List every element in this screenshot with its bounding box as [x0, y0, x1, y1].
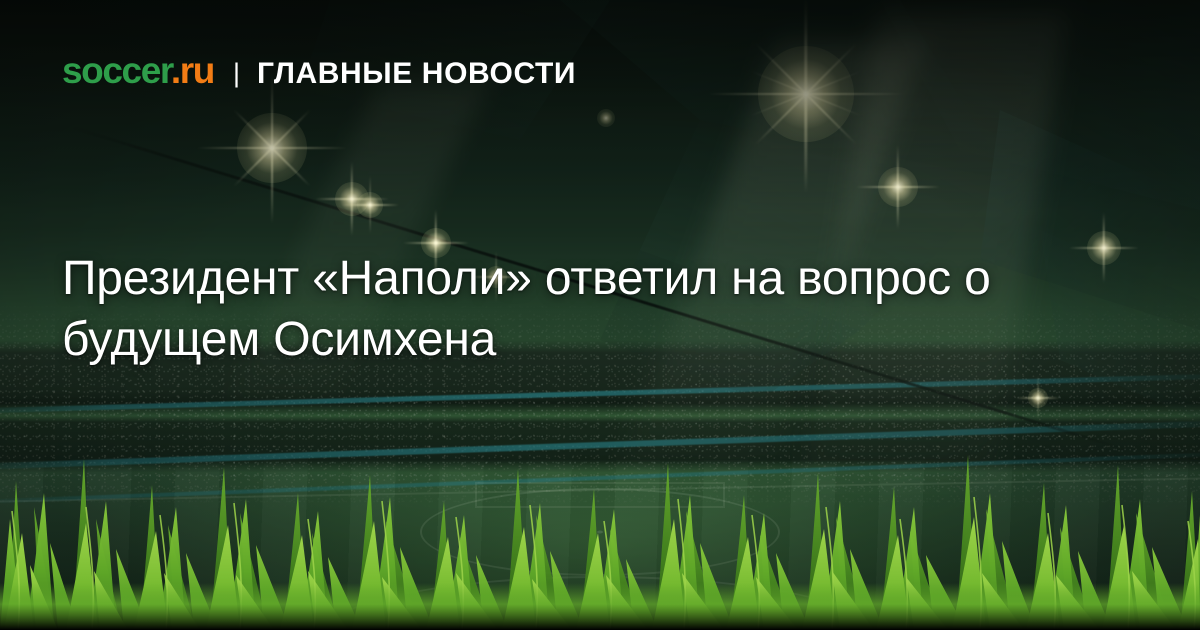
header-kicker: ГЛАВНЫЕ НОВОСТИ	[257, 59, 576, 89]
site-logo[interactable]: soccer.ru	[62, 52, 214, 89]
railing-upper	[0, 373, 1200, 414]
logo-text-ru: .ru	[171, 50, 214, 91]
article-headline: Президент «Наполи» ответил на вопрос о б…	[62, 248, 1022, 371]
header-separator: |	[233, 60, 240, 87]
light-beam-2	[803, 10, 1067, 480]
brand-header: soccer.ru | ГЛАВНЫЕ НОВОСТИ	[62, 52, 576, 89]
grass-foreground	[0, 415, 1200, 630]
logo-text-soccer: soccer	[62, 50, 171, 91]
news-share-card: soccer.ru | ГЛАВНЫЕ НОВОСТИ Президент «Н…	[0, 0, 1200, 630]
